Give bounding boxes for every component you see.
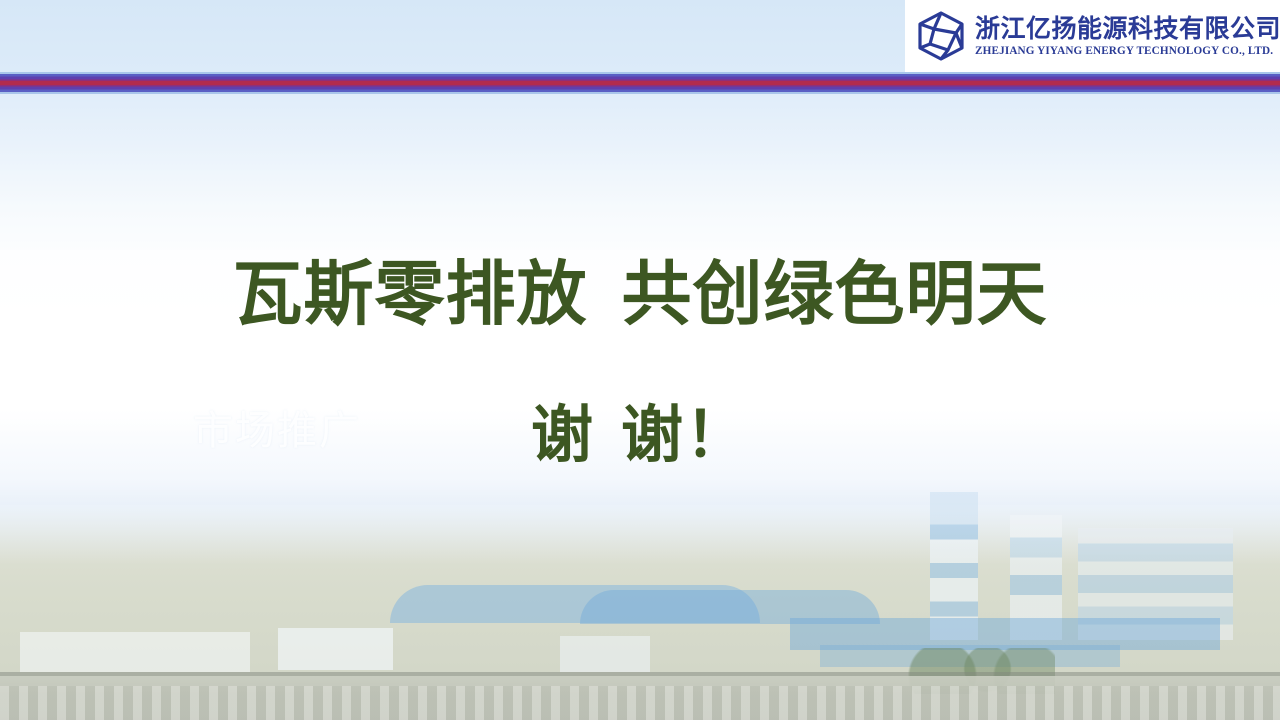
company-name-en: ZHEJIANG YIYANG ENERGY TECHNOLOGY CO., L… <box>975 45 1280 57</box>
headline-part-1: 瓦斯零排放 <box>233 253 588 335</box>
company-name-cn: 浙江亿扬能源科技有限公司 <box>975 15 1280 43</box>
left-white-facility <box>20 632 250 672</box>
thanks-part-1: 谢 <box>531 398 595 471</box>
slide-headline: 瓦斯零排放共创绿色明天 <box>0 258 1280 332</box>
white-facility-block-2 <box>560 636 650 672</box>
white-facility-block <box>278 628 393 670</box>
headline-part-2: 共创绿色明天 <box>622 253 1048 335</box>
thanks-text: 谢谢！ <box>0 402 1280 467</box>
company-logo-panel: 浙江亿扬能源科技有限公司 ZHEJIANG YIYANG ENERGY TECH… <box>905 0 1280 72</box>
tricolor-divider-bar <box>0 72 1280 94</box>
foreground-ground-detail <box>0 686 1280 720</box>
logo-text-block: 浙江亿扬能源科技有限公司 ZHEJIANG YIYANG ENERGY TECH… <box>975 15 1280 57</box>
hexagon-crystal-logo-icon <box>915 9 967 63</box>
thanks-part-2: 谢！ <box>621 398 749 471</box>
presentation-slide: 浙江亿扬能源科技有限公司 ZHEJIANG YIYANG ENERGY TECH… <box>0 0 1280 720</box>
